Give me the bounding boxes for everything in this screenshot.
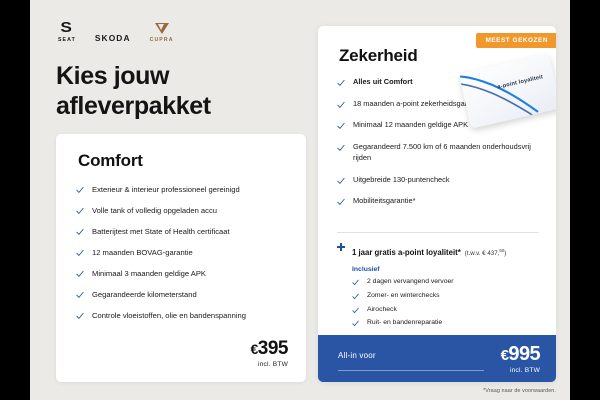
check-icon <box>76 312 84 320</box>
comfort-price-value: 395 <box>258 338 288 359</box>
price-rule <box>338 370 484 371</box>
loyalty-value-prefix: (t.w.v. € 437, <box>465 250 500 257</box>
cupra-wordmark: CUPRA <box>150 37 174 43</box>
inclusief-block: Inclusief 2 dagen vervangend vervoer Zom… <box>352 266 502 333</box>
check-icon <box>337 79 345 87</box>
check-icon <box>352 320 359 327</box>
list-item-label: Mobiliteitsgarantie* <box>353 196 415 207</box>
list-item-label: Gegarandeerde kilometerstand <box>92 289 197 300</box>
zekerheid-price-note: incl. BTW <box>501 367 540 374</box>
zekerheid-price-block: €995 incl. BTW <box>501 344 540 374</box>
check-icon <box>76 270 84 278</box>
list-item-label: Ruit- en bandenreparatie <box>367 319 442 328</box>
list-item-label: Batterijtest met State of Health certifi… <box>92 226 230 237</box>
list-item: Ruit- en bandenreparatie <box>352 319 502 328</box>
skoda-wordmark: SKODA <box>95 33 131 43</box>
list-item: Minimaal 3 maanden geldige APK <box>76 268 290 279</box>
comfort-price-note: incl. BTW <box>251 361 289 368</box>
package-card-zekerheid[interactable]: MEEST GEKOZEN Zekerheid Alles uit Comfor… <box>318 26 556 382</box>
list-item: Airocheck <box>352 306 502 315</box>
comfort-title: Comfort <box>78 151 143 171</box>
seat-wordmark: SEAT <box>58 37 76 43</box>
zekerheid-price-value: 995 <box>508 343 540 365</box>
list-item: Mobiliteitsgarantie* <box>337 196 543 207</box>
check-icon <box>337 144 345 152</box>
list-item-label: Volle tank of volledig opgeladen accu <box>92 205 217 216</box>
list-item: 12 maanden BOVAG-garantie <box>76 247 290 258</box>
zekerheid-price: €995 <box>501 344 540 364</box>
list-item-label: Gegarandeerd 7.500 km of 6 maanden onder… <box>353 142 543 163</box>
inclusief-list: 2 dagen vervangend vervoer Zomer- en win… <box>352 278 502 328</box>
currency-symbol: € <box>251 341 258 357</box>
status-badge: MEEST GEKOZEN <box>476 33 556 48</box>
comfort-feature-list: Exterieur & interieur professioneel gere… <box>76 184 290 331</box>
check-icon <box>337 101 345 109</box>
package-card-comfort[interactable]: Comfort Exterieur & interieur profession… <box>56 134 306 382</box>
list-item: 2 dagen vervangend vervoer <box>352 278 502 287</box>
list-item-label: Minimaal 12 maanden geldige APK <box>353 120 468 131</box>
check-icon <box>352 279 359 286</box>
list-item-label: Controle vloeistoffen, olie en bandenspa… <box>92 310 246 321</box>
list-item-label: Exterieur & interieur professioneel gere… <box>92 184 240 195</box>
brand-skoda: SKODA <box>95 33 131 43</box>
loyalty-row: 1 jaar gratis a-point loyaliteit*(t.w.v.… <box>337 242 545 260</box>
letterbox-left <box>0 0 30 400</box>
check-icon <box>76 291 84 299</box>
list-item-label: Alles uit Comfort <box>353 77 413 88</box>
list-item: Zomer- en winterchecks <box>352 292 502 301</box>
disclaimer-text: *Vraag naar de voorwaarden. <box>483 388 556 394</box>
list-item-label: Airocheck <box>367 306 397 315</box>
list-item: Gegarandeerd 7.500 km of 6 maanden onder… <box>337 142 543 163</box>
list-item: Exterieur & interieur professioneel gere… <box>76 184 290 195</box>
zekerheid-price-bar: All-in voor €995 incl. BTW <box>318 335 556 382</box>
list-item: Minimaal 12 maanden geldige APK <box>337 120 543 131</box>
section-divider <box>337 232 539 233</box>
zekerheid-title: Zekerheid <box>339 46 418 66</box>
allin-label: All-in voor <box>338 351 376 360</box>
list-item-label: 12 maanden BOVAG-garantie <box>92 247 193 258</box>
comfort-price-block: €395 incl. BTW <box>251 339 289 368</box>
check-icon <box>337 122 345 130</box>
list-item: Uitgebreide 130-puntencheck <box>337 175 543 186</box>
list-item-label: Zomer- en winterchecks <box>367 292 440 301</box>
check-icon <box>76 186 84 194</box>
slide-canvas: SEAT SKODA CUPRA Kies jouw afleverpakket… <box>30 0 570 400</box>
list-item-label: 2 dagen vervangend vervoer <box>367 278 454 287</box>
list-item: Controle vloeistoffen, olie en bandenspa… <box>76 310 290 321</box>
check-icon <box>337 177 345 185</box>
brand-logo-bar: SEAT SKODA CUPRA <box>58 22 174 43</box>
check-icon <box>76 228 84 236</box>
list-item-label: 18 maanden a-point zekerheidsgarantie <box>353 99 483 110</box>
page-title: Kies jouw afleverpakket <box>56 62 286 121</box>
brand-seat: SEAT <box>58 22 76 43</box>
check-icon <box>76 207 84 215</box>
brand-cupra: CUPRA <box>150 23 174 43</box>
loyalty-value-suffix: ) <box>504 250 506 257</box>
loyalty-title: 1 jaar gratis a-point loyaliteit* <box>352 248 461 257</box>
list-item: Volle tank of volledig opgeladen accu <box>76 205 290 216</box>
check-icon <box>352 293 359 300</box>
loyalty-value: (t.w.v. € 437,50) <box>465 250 507 257</box>
list-item: Gegarandeerde kilometerstand <box>76 289 290 300</box>
seat-logo-icon <box>61 22 73 34</box>
list-item-label: Minimaal 3 maanden geldige APK <box>92 268 206 279</box>
check-icon <box>76 249 84 257</box>
check-icon <box>352 307 359 314</box>
check-icon <box>337 198 345 206</box>
list-item-label: Uitgebreide 130-puntencheck <box>353 175 450 186</box>
cupra-logo-icon <box>155 23 169 34</box>
inclusief-label: Inclusief <box>352 266 502 273</box>
comfort-price: €395 <box>251 339 289 358</box>
list-item: Batterijtest met State of Health certifi… <box>76 226 290 237</box>
letterbox-right <box>570 0 600 400</box>
plus-icon <box>337 243 345 251</box>
